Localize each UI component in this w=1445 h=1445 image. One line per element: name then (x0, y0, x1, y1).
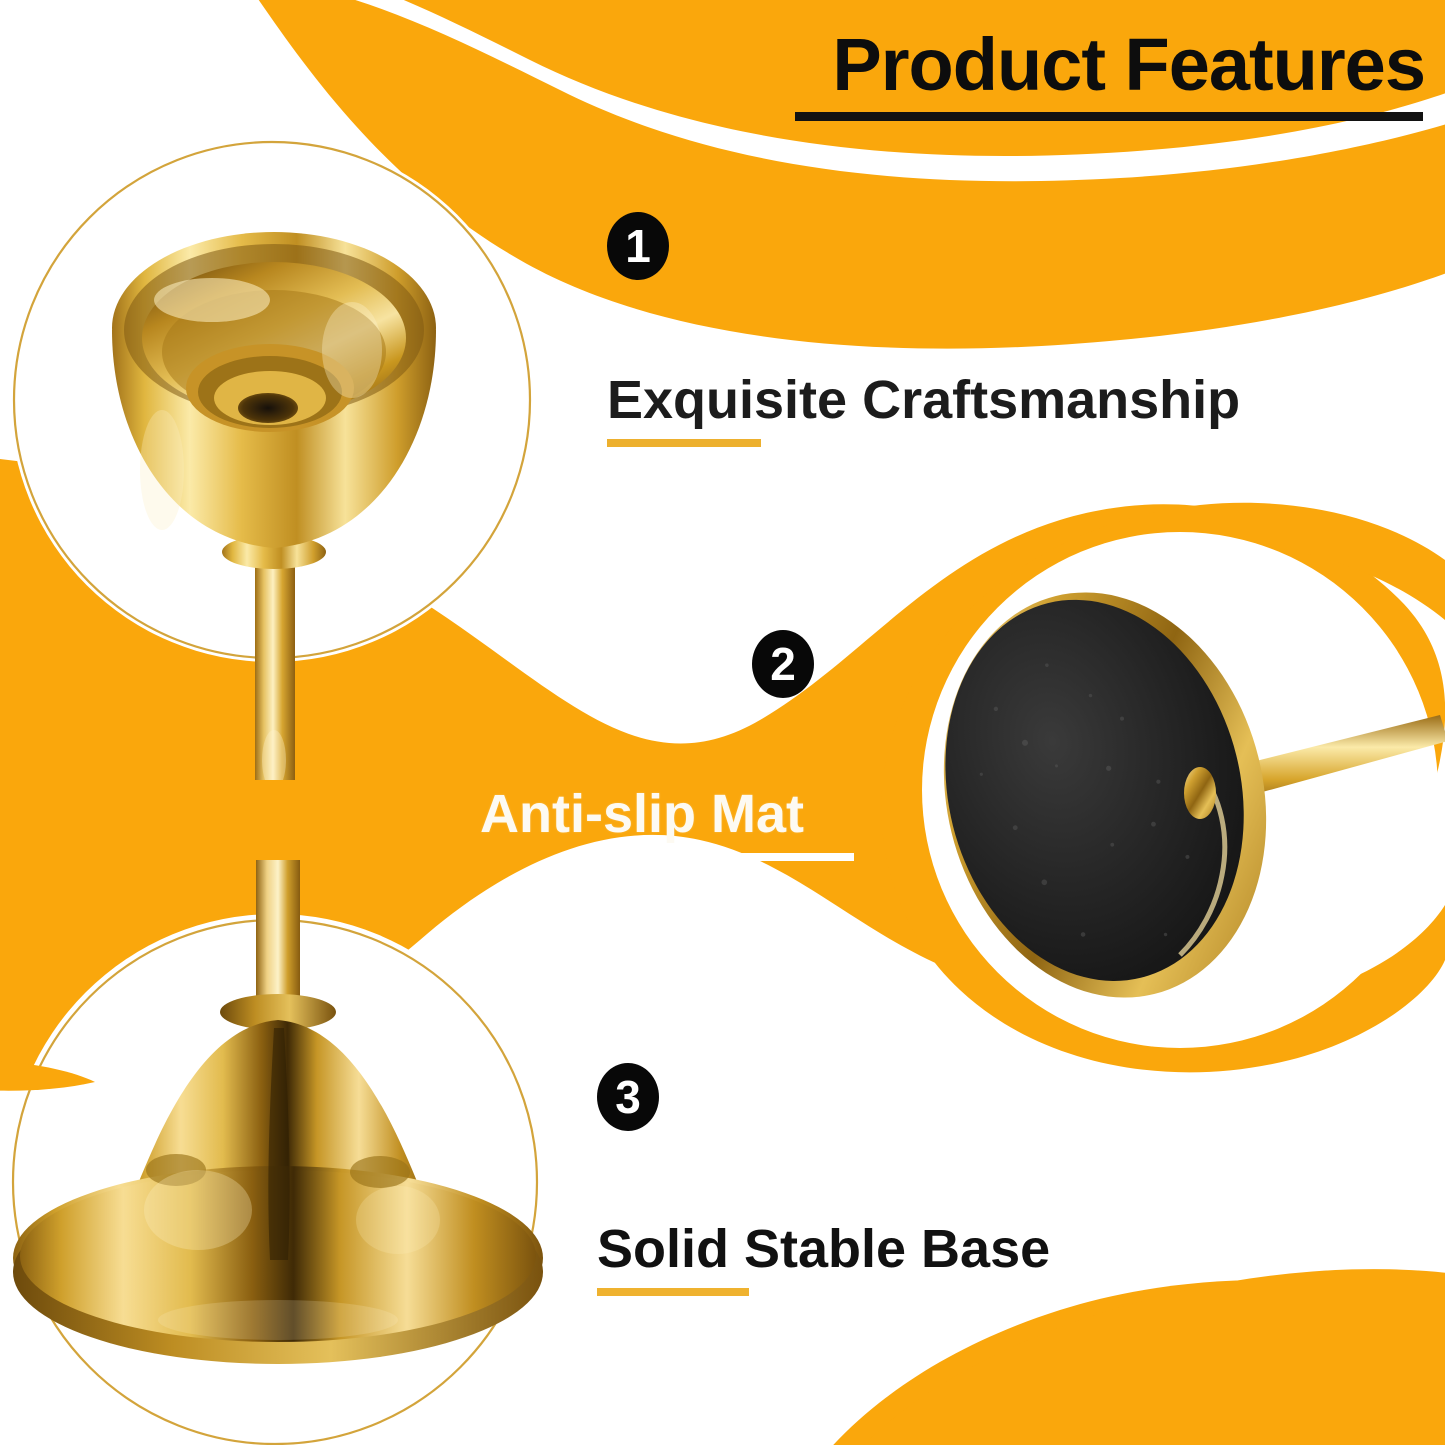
base-stem (256, 860, 300, 1010)
feature-item-1: 1 Exquisite Craftsmanship (607, 212, 1240, 447)
feature-3-number-badge: 3 (597, 1063, 659, 1131)
feature-3-underline (597, 1288, 749, 1296)
feature-item-2: 2 Anti-slip Mat (752, 630, 854, 861)
product-features-infographic: Product Features 1 Exquisite Craftsmansh… (0, 0, 1445, 1445)
feature-1-number-badge: 1 (607, 212, 669, 280)
mat-felt-surface (906, 568, 1283, 1013)
feature-2-image (900, 545, 1445, 1045)
title-underline (795, 112, 1423, 121)
feature-3-image (8, 860, 553, 1420)
feature-1-image (12, 140, 532, 780)
feature-item-3: 3 Solid Stable Base (597, 1063, 1050, 1296)
feature-2-label: Anti-slip Mat (480, 786, 854, 843)
title-block: Product Features (795, 28, 1425, 121)
base-dimple-right (350, 1156, 410, 1188)
feature-1-label: Exquisite Craftsmanship (607, 372, 1240, 429)
feature-2-number-badge: 2 (752, 630, 814, 698)
feature-3-label: Solid Stable Base (597, 1221, 1050, 1278)
feature-1-underline (607, 439, 761, 447)
feature-2-underline (704, 853, 854, 861)
cup-bore (238, 393, 298, 423)
mat-rod-joint (1184, 767, 1216, 819)
page-title: Product Features (795, 28, 1425, 102)
